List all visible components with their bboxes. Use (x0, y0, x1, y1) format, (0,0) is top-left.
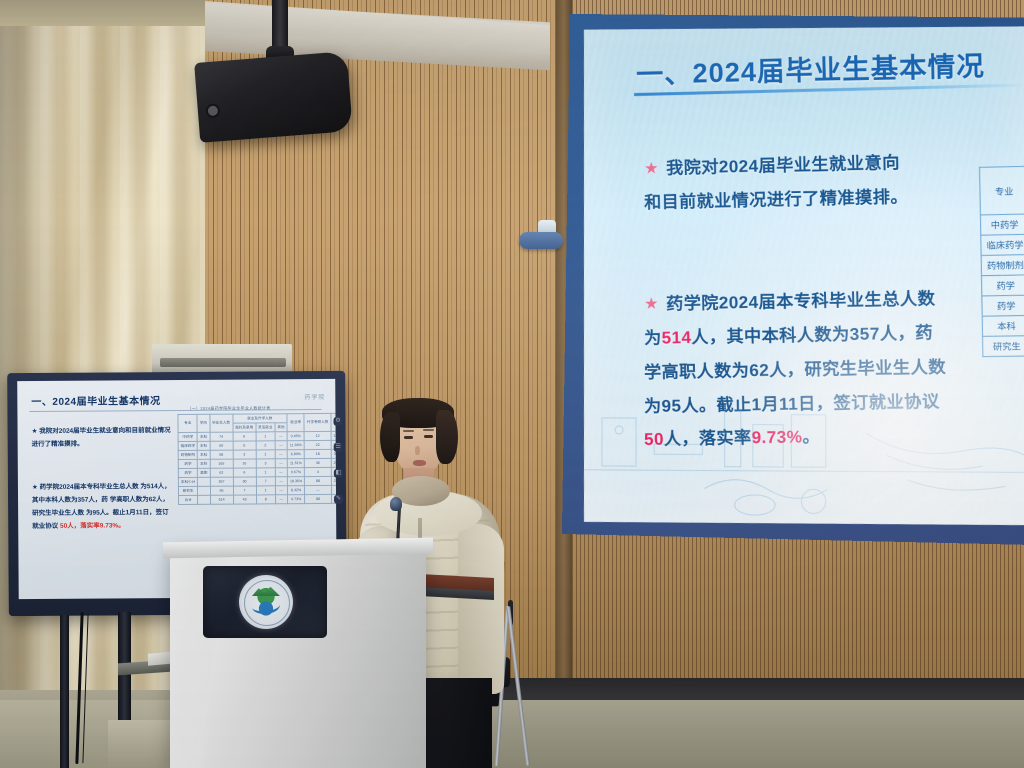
slide-table-row: 中药学 (980, 214, 1024, 235)
monitor-slide-meta: 药学院 (304, 392, 325, 401)
th-other: 其他 (275, 423, 287, 432)
cell: 3 (256, 459, 275, 468)
bullet-star-icon-1: ★ (644, 161, 659, 177)
cell: 合计 (179, 495, 198, 504)
gear-icon[interactable]: ⚙ (333, 417, 342, 426)
presentation-slide: 一、2024届毕业生基本情况 ★ 我院对2024届毕业生就业意向 和目前就业情况… (584, 26, 1024, 525)
cell: 6 (233, 468, 256, 477)
cell: 165 (210, 459, 233, 468)
cell: — (275, 477, 287, 486)
cell: — (275, 441, 287, 450)
cell: 本科 (198, 441, 210, 450)
cell: 9.73% (288, 495, 305, 504)
value-total: 514 (661, 328, 691, 348)
curtain-rail (0, 0, 205, 26)
eyebrow-left (403, 430, 414, 432)
slide-table-row: 药物制剂 (981, 255, 1024, 276)
slide-bullet-1-line-2: 和目前就业情况进行了精准摸排。 (644, 181, 909, 219)
cell: 9.45% (287, 432, 304, 441)
slide-table-row: 临床药学 (981, 234, 1024, 255)
cell: 中药学 (178, 432, 197, 441)
cell: 16 (233, 459, 256, 468)
cell: 药物制剂 (178, 450, 197, 459)
cell (198, 477, 210, 486)
slide-bullet-2-line-3: 学高职人数为62人，研究生毕业生人数 (644, 351, 947, 389)
slide-major-table: 专业 中药学 临床药学 药物制剂 药学 药学 本科 研究生 (979, 166, 1024, 357)
nose (415, 446, 420, 455)
cell: — (275, 468, 287, 477)
cell: 11.51% (287, 459, 304, 468)
cell: 514 (210, 495, 233, 504)
cell: 12 (304, 431, 331, 440)
th-degree: 学历 (197, 414, 209, 432)
cell: 357 (210, 477, 233, 486)
cell: 本科 (198, 450, 210, 459)
cell: 2 (256, 441, 275, 450)
monitor-bullet-2: ★ 药学院2024届本专科毕业生总人数 为514人，其中本科人数为357人，药 … (32, 480, 172, 533)
slide-table-row: 药学 (981, 275, 1024, 296)
slide-bullet-2-line-2: 为514人，其中本科人数为357人，药 (644, 317, 934, 355)
cell: 1 (256, 432, 275, 441)
cell: 高职 (198, 468, 210, 477)
cell: — (275, 486, 287, 495)
cell (198, 486, 210, 495)
cell: 16.21% (331, 431, 337, 440)
table-row: 合计 514 43 8 — 9.73% 88 17.12% (179, 494, 337, 504)
monitor-bullet-1: ★ 我院对2024届毕业生就业意向和目前就业情况进行了精准摸排。 (32, 424, 172, 451)
cell (198, 495, 210, 504)
cell: 58 (210, 450, 233, 459)
bullet-star-icon-2: ★ (644, 297, 659, 313)
cell: 22 (304, 440, 331, 449)
cell: — (275, 459, 287, 468)
cell: 药学 (178, 459, 197, 468)
printer-paper-slot (160, 358, 286, 367)
cell: 4 (305, 467, 332, 476)
th-postgrad: 升学考研人数 (304, 413, 331, 431)
eye-right (424, 435, 433, 438)
ceiling-speaker-icon (194, 51, 353, 143)
slide-table-header: 专业 (980, 166, 1024, 215)
monitor-slide-title: 一、2024届毕业生基本情况 (31, 392, 160, 408)
curtain-shadow (0, 0, 60, 735)
th-employed: 就业及升学人数 (232, 414, 287, 423)
cell: 1 (256, 486, 275, 495)
cell: 7 (256, 477, 275, 486)
wall-sensor-icon (519, 232, 563, 249)
monitor-title-underline (29, 409, 321, 412)
conference-room-photo: 一、2024届毕业生基本情况 ★ 我院对2024届毕业生就业意向 和目前就业情况… (0, 0, 1024, 768)
cell: 7 (233, 486, 256, 495)
cell: 本科 (198, 459, 210, 468)
cell: 30 (233, 477, 256, 486)
cell: — (331, 485, 336, 494)
th-signed: 签约及录用 (233, 423, 256, 432)
monitor-b2-l5: 50人，落实率9.73%。 (60, 522, 125, 529)
cell: 6 (233, 432, 256, 441)
slide-table-row: 本科 (982, 315, 1024, 336)
cell: 11.66% (287, 441, 304, 450)
cell: 6.89% (287, 450, 304, 459)
cell: — (275, 495, 287, 504)
cell: 5 (233, 441, 256, 450)
layout-icon[interactable]: ◧ (334, 469, 343, 478)
cell: 62 (210, 468, 233, 477)
cell: 研究生 (178, 486, 197, 495)
th-flexible: 灵活就业 (256, 423, 275, 432)
cell: 1 (256, 468, 275, 477)
monitor-stats-table: 专业 学历 毕业生人数 就业及升学人数 就业率 升学考研人数 升学率 签约及录用… (177, 413, 336, 505)
cell: 1 (256, 450, 275, 459)
cell: — (275, 450, 287, 459)
cell: 95 (210, 486, 233, 495)
eyebrow-right (423, 429, 434, 431)
cell: 本科 (197, 432, 209, 441)
monitor-b2-l1: 药学院2024届本专科毕业生总人数 (40, 483, 139, 491)
projection-screen: 一、2024届毕业生基本情况 ★ 我院对2024届毕业生就业意向 和目前就业情况… (562, 14, 1024, 545)
monitor-bullet-1-text: 我院对2024届毕业生就业意向和目前就业情况进行了精准摸排。 (32, 427, 171, 448)
eye-left (404, 436, 413, 439)
cell: 9.67% (287, 468, 304, 477)
cell: 36 (305, 458, 332, 467)
slide-table-row: 研究生 (983, 336, 1024, 357)
cell: 88 (305, 494, 332, 503)
hair-left (380, 412, 400, 462)
cell: 临床药学 (178, 441, 197, 450)
cell: 10.36% (287, 477, 304, 486)
cell: 本科小计 (178, 477, 197, 486)
cell: 21.81% (331, 458, 337, 467)
cell: — (275, 432, 287, 441)
cell: 8 (256, 495, 275, 504)
slide-bullet-2-line-1: 药学院2024届本专科毕业生总人数 (666, 283, 936, 321)
slide-bullet-1-line-1: 我院对2024届毕业生就业意向 (666, 147, 900, 185)
th-rate: 就业率 (287, 414, 304, 432)
cell: 60 (210, 441, 233, 450)
cell: 8.42% (288, 486, 305, 495)
cell: 18 (304, 449, 331, 458)
slide-table-row: 药学 (982, 295, 1024, 316)
cart-pole-rear (60, 615, 69, 768)
cell: — (305, 485, 332, 494)
cell: 药学 (178, 468, 197, 477)
th-grads: 毕业生人数 (210, 414, 233, 432)
monitor-table-caption: （一）2024届药学院毕业生毕业人数统计表 (187, 405, 270, 412)
hair-right (436, 410, 458, 464)
menu-icon[interactable]: ☰ (334, 443, 343, 452)
slide-decorative-lineart (584, 392, 1024, 525)
arm-right (458, 524, 504, 694)
th-major: 专业 (178, 414, 198, 432)
mouth (413, 460, 426, 466)
cell: 3 (233, 450, 256, 459)
cell: 88 (305, 476, 332, 485)
cell: 43 (233, 495, 256, 504)
pen-icon[interactable]: ✎ (334, 495, 343, 504)
microphone-icon (390, 497, 402, 511)
cell: 74 (210, 432, 233, 441)
